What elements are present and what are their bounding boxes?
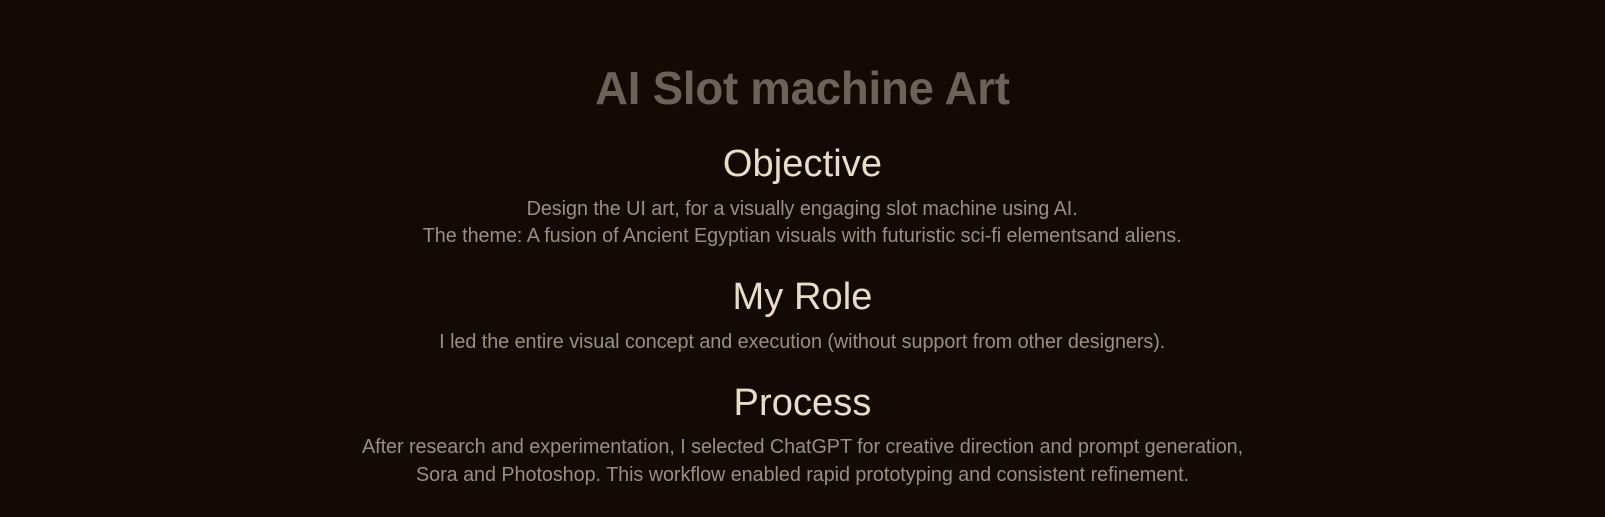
body-line: I led the entire visual concept and exec… <box>439 328 1165 356</box>
body-line: After research and experimentation, I se… <box>362 433 1243 461</box>
page-title: AI Slot machine Art <box>595 62 1010 115</box>
section-heading-process: Process <box>734 381 872 426</box>
body-line: Sora and Photoshop. This workflow enable… <box>362 461 1243 489</box>
body-line: Design the UI art, for a visually engagi… <box>423 195 1182 223</box>
section-heading-my-role: My Role <box>732 275 872 320</box>
section-body-my-role: I led the entire visual concept and exec… <box>439 328 1165 356</box>
section-body-objective: Design the UI art, for a visually engagi… <box>423 195 1182 250</box>
section-process: Process After research and experimentati… <box>0 381 1605 489</box>
body-line: The theme: A fusion of Ancient Egyptian … <box>423 222 1182 250</box>
section-body-process: After research and experimentation, I se… <box>362 433 1243 488</box>
portfolio-slide: AI Slot machine Art Objective Design the… <box>0 0 1605 517</box>
section-my-role: My Role I led the entire visual concept … <box>0 275 1605 356</box>
section-heading-objective: Objective <box>723 142 882 187</box>
section-objective: Objective Design the UI art, for a visua… <box>0 142 1605 250</box>
